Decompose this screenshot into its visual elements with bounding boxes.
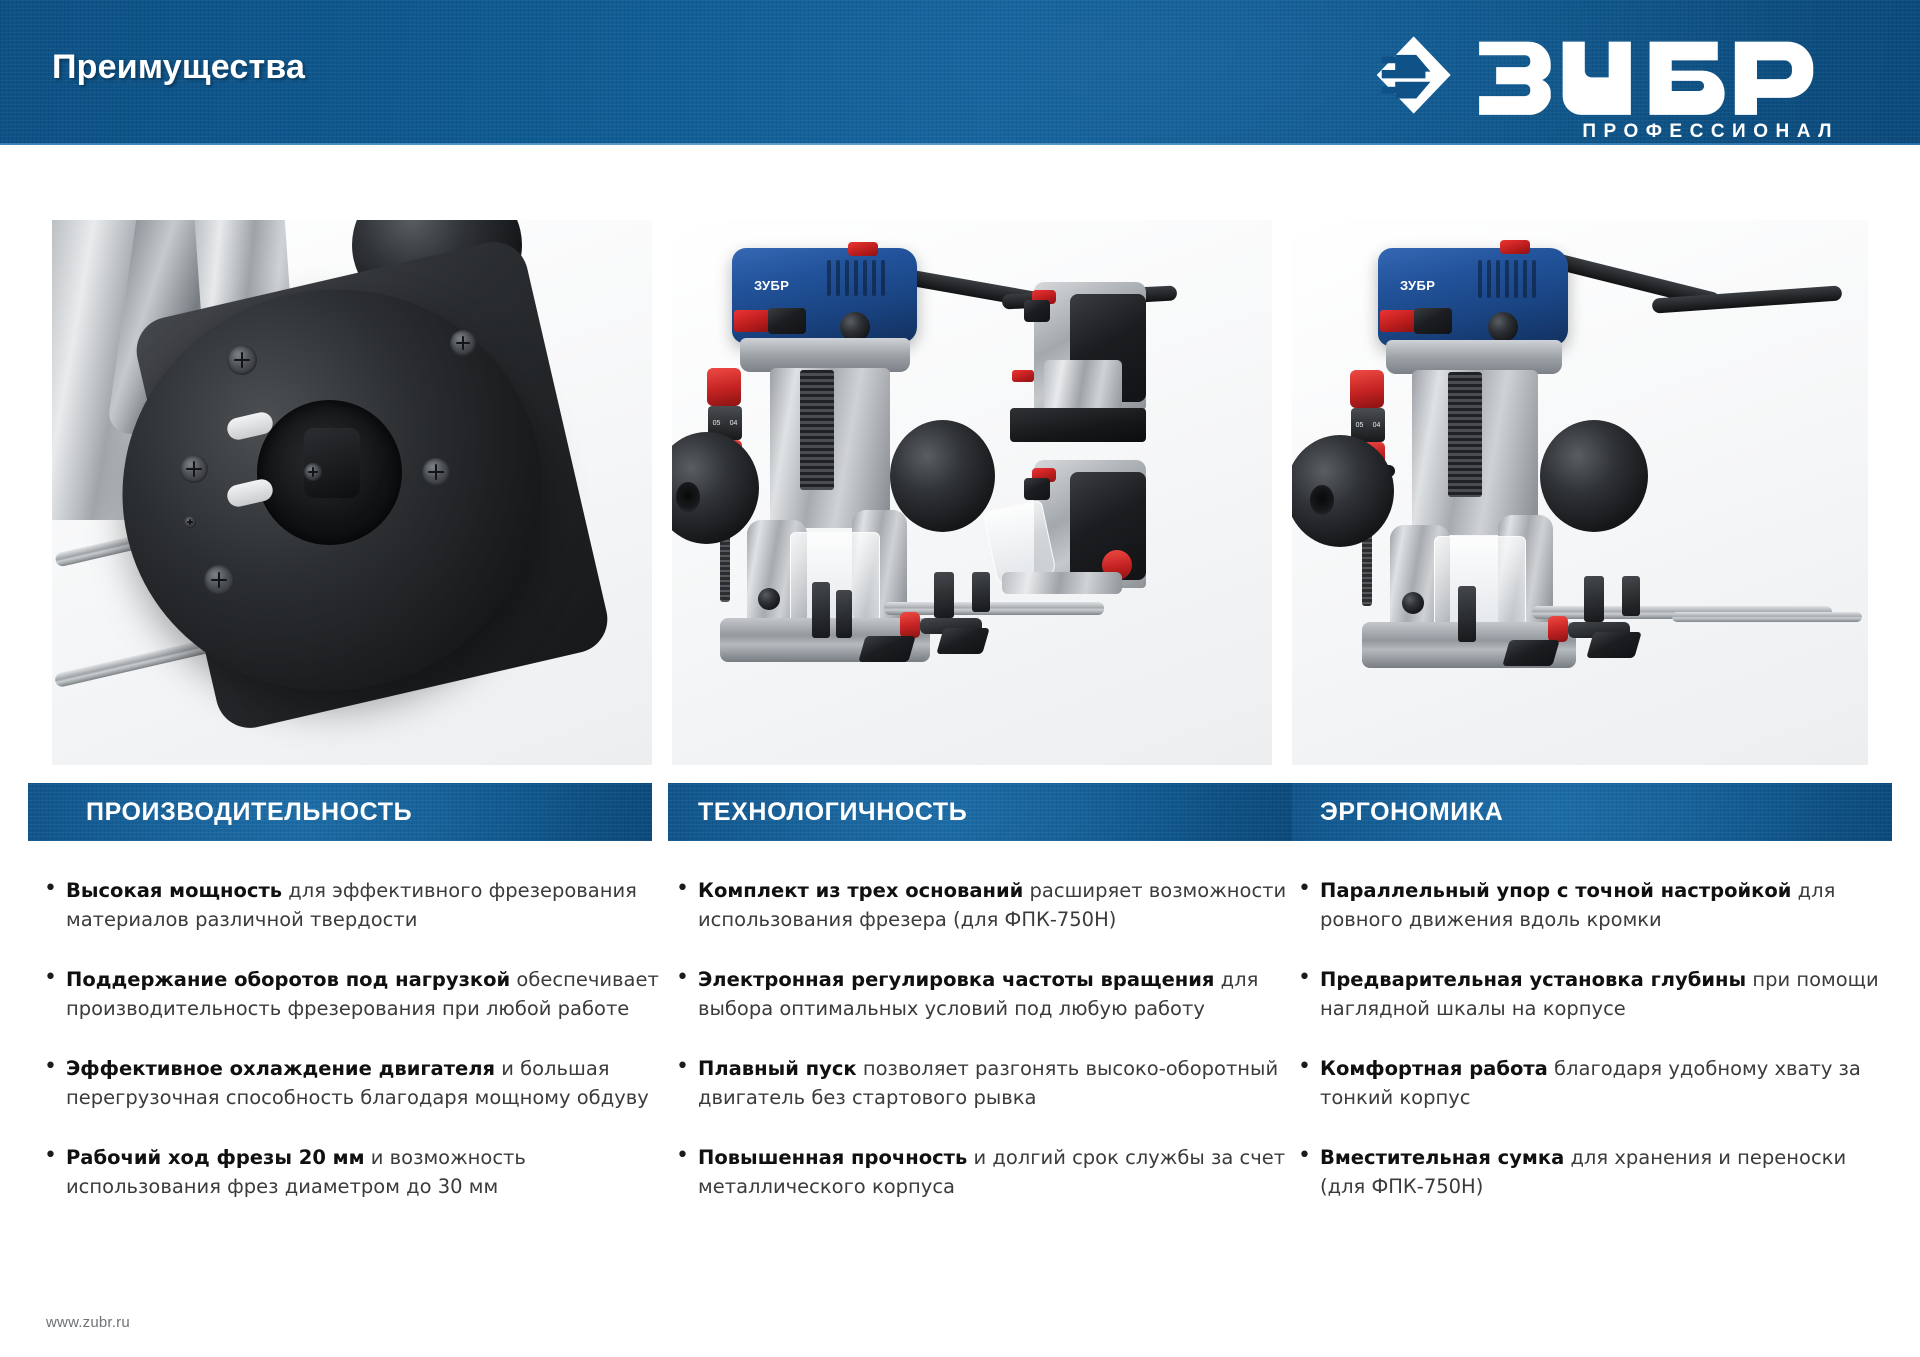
section-header-technology: ТЕХНОЛОГИЧНОСТЬ: [668, 783, 1292, 841]
bullet-lead: Рабочий ход фрезы 20 мм: [66, 1146, 365, 1169]
section-title-performance: ПРОИЗВОДИТЕЛЬНОСТЬ: [86, 798, 412, 827]
router-chip-guard: [790, 532, 880, 632]
page-header: Преимущества: [0, 0, 1920, 145]
bullet-lead: Параллельный упор с точной настройкой: [1320, 879, 1791, 902]
bullet-column-performance: Высокая мощность для эффективного фрезер…: [40, 876, 660, 1232]
bullet-lead: Электронная регулировка частоты вращения: [698, 968, 1214, 991]
brand-subtitle: ПРОФЕССИОНАЛ: [1582, 121, 1839, 143]
product-photo-router-with-accessories: ЗУБР 05 04: [672, 220, 1272, 765]
list-item: Поддержание оборотов под нагрузкой обесп…: [40, 965, 660, 1023]
bullet-column-technology: Комплект из трех оснований расширяет воз…: [672, 876, 1292, 1232]
list-item: Электронная регулировка частоты вращения…: [672, 965, 1292, 1023]
bullet-lead: Предварительная установка глубины: [1320, 968, 1746, 991]
bullet-lead: Комплект из трех оснований: [698, 879, 1023, 902]
product-brand-mark: ЗУБР: [754, 278, 789, 293]
depth-adjust-knob: [707, 368, 741, 406]
bullet-lead: Поддержание оборотов под нагрузкой: [66, 968, 510, 991]
bullet-lead: Высокая мощность: [66, 879, 282, 902]
list-item: Повышенная прочность и долгий срок служб…: [672, 1143, 1292, 1201]
list-item: Параллельный упор с точной настройкой дл…: [1294, 876, 1894, 934]
list-item: Комплект из трех оснований расширяет воз…: [672, 876, 1292, 934]
photo-strip: ЗУБР 05 04: [0, 145, 1920, 790]
zubr-diamond-arrow-icon: [1370, 33, 1454, 117]
bullet-lead: Вместительная сумка: [1320, 1146, 1564, 1169]
list-item: Предварительная установка глубины при по…: [1294, 965, 1894, 1023]
scale-mark-04: 04: [730, 420, 738, 427]
footer-website-url[interactable]: www.zubr.ru: [46, 1314, 130, 1331]
brand-wordmark: [1474, 33, 1832, 115]
page-title: Преимущества: [52, 48, 305, 87]
list-item: Комфортная работа благодаря удобному хва…: [1294, 1054, 1894, 1112]
list-item: Рабочий ход фрезы 20 мм и возможность ис…: [40, 1143, 660, 1201]
brand-logo: ПРОФЕССИОНАЛ: [1370, 33, 1832, 119]
section-header-ergonomics: ЭРГОНОМИКА: [1292, 783, 1892, 841]
bullet-lead: Эффективное охлаждение двигателя: [66, 1057, 495, 1080]
section-header-performance: ПРОИЗВОДИТЕЛЬНОСТЬ: [28, 783, 652, 841]
bullet-lead: Плавный пуск: [698, 1057, 857, 1080]
list-item: Плавный пуск позволяет разгонять высоко-…: [672, 1054, 1292, 1112]
router-handle-right: [890, 420, 995, 532]
section-title-technology: ТЕХНОЛОГИЧНОСТЬ: [698, 798, 967, 827]
list-item: Вместительная сумка для хранения и перен…: [1294, 1143, 1894, 1201]
product-photo-router-side-view: ЗУБР 0504: [1292, 220, 1868, 765]
trim-base-plate: [1010, 408, 1146, 442]
section-title-ergonomics: ЭРГОНОМИКА: [1320, 798, 1503, 827]
bullet-lead: Комфортная работа: [1320, 1057, 1548, 1080]
product-photo-base-closeup: [52, 220, 652, 765]
list-item: Высокая мощность для эффективного фрезер…: [40, 876, 660, 934]
list-item: Эффективное охлаждение двигателя и больш…: [40, 1054, 660, 1112]
bullet-lead: Повышенная прочность: [698, 1146, 967, 1169]
scale-mark-05: 05: [713, 420, 721, 427]
bullet-column-ergonomics: Параллельный упор с точной настройкой дл…: [1294, 876, 1894, 1232]
